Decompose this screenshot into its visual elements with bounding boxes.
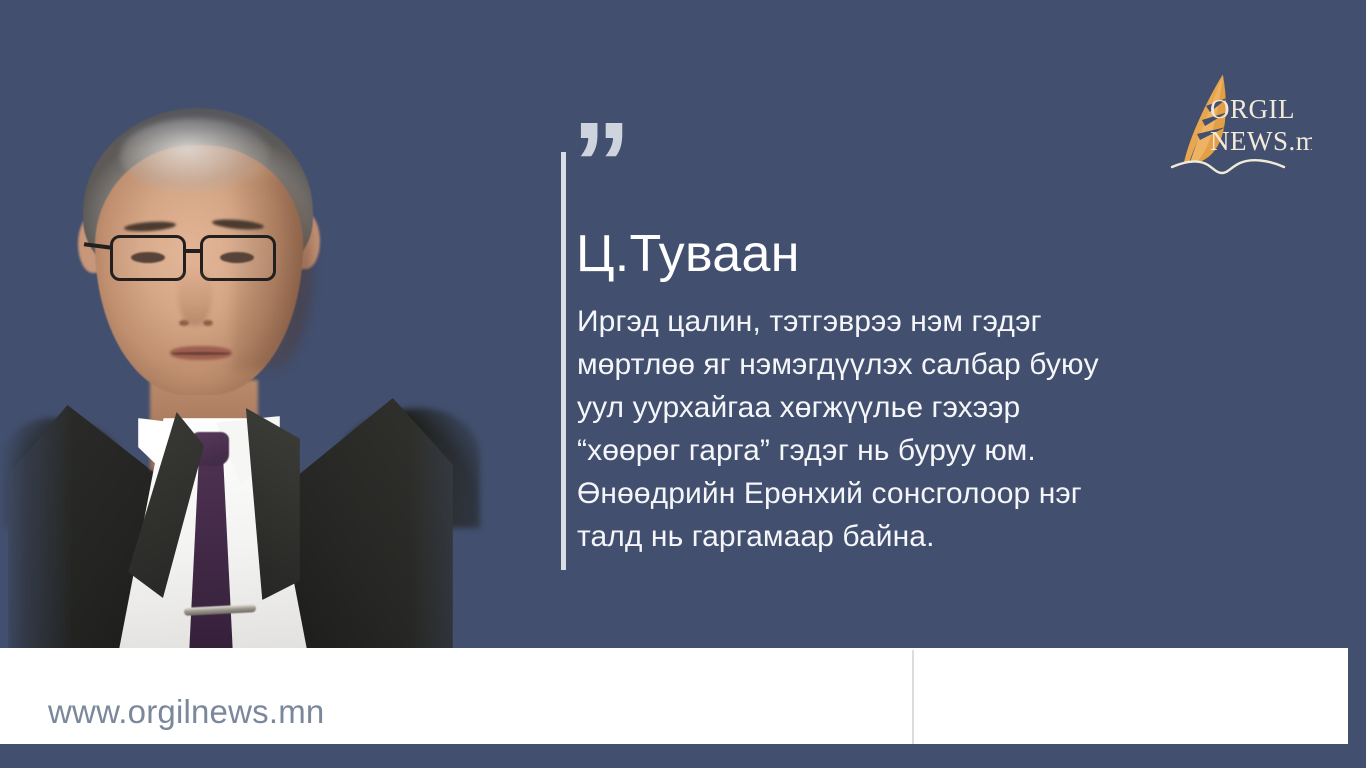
- footer-divider: [912, 650, 914, 744]
- portrait-nostril-right: [203, 320, 213, 326]
- site-url[interactable]: www.orgilnews.mn: [48, 693, 324, 731]
- quotation-mark-icon: ”: [572, 105, 633, 223]
- portrait-eyeglass-lens-left: [110, 235, 186, 281]
- quote-line: “хөөрөг гарга” гэдэг нь буруу юм.: [577, 429, 1217, 472]
- quote-line: талд нь гаргамаар байна.: [577, 515, 1217, 558]
- news-quote-card: ” Ц.Туваан Иргэд цалин, тэтгэврээ нэм гэ…: [0, 0, 1366, 768]
- portrait-eyeglass-bridge: [186, 249, 200, 253]
- quote-line: уул уурхайгаа хөгжүүлье гэхээр: [577, 386, 1217, 429]
- speaker-name: Ц.Туваан: [576, 224, 800, 284]
- portrait-hair-highlight: [120, 118, 270, 193]
- logo-swoosh-icon: [1172, 160, 1284, 173]
- portrait-nostril-left: [179, 320, 189, 326]
- portrait-chin: [150, 366, 250, 402]
- orgil-news-logo[interactable]: ORGIL NEWS.mn: [1160, 66, 1312, 181]
- speaker-portrait: [0, 0, 560, 655]
- quote-line: Өнөөдрийн Ерөнхий сонсголоор нэг: [577, 472, 1217, 515]
- quote-line: мөртлөө яг нэмэгдүүлэх салбар буюу: [577, 343, 1217, 386]
- portrait-eyeglass-lens-right: [200, 235, 276, 281]
- quote-vertical-rule: [561, 152, 566, 570]
- quote-text: Иргэд цалин, тэтгэврээ нэм гэдэг мөртлөө…: [577, 300, 1217, 558]
- portrait-nose: [178, 268, 212, 326]
- quote-line: Иргэд цалин, тэтгэврээ нэм гэдэг: [577, 300, 1217, 343]
- portrait-illustration: [0, 0, 560, 655]
- logo-line-1: ORGIL: [1210, 94, 1295, 124]
- portrait-mouth-line: [172, 352, 230, 355]
- logo-line-2: NEWS.mn: [1210, 126, 1312, 156]
